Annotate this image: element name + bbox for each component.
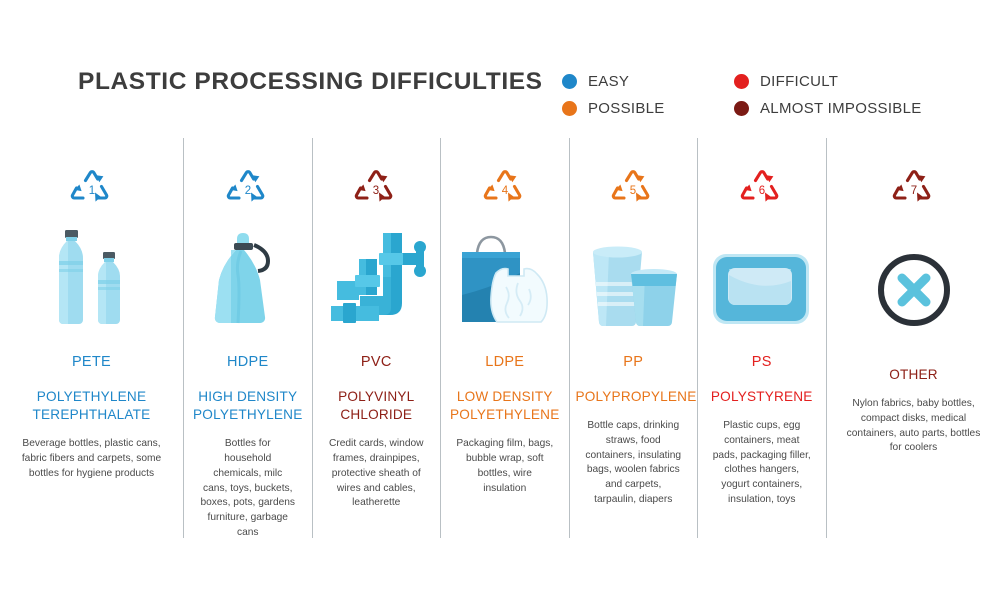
plastic-name-other: OTHER bbox=[827, 366, 1000, 384]
legend-dot-difficult bbox=[734, 74, 749, 89]
legend-dot-almost-impossible bbox=[734, 101, 749, 116]
pp-cups-icon bbox=[570, 220, 698, 330]
recycling-symbol-3: 3 bbox=[313, 163, 441, 218]
plastic-name-pp: POLYPROPYLENE bbox=[570, 388, 698, 406]
infographic-header: PLASTIC PROCESSING DIFFICULTIES EASY DIF… bbox=[0, 0, 1000, 138]
plastic-column-ldpe: 4 LDPE LOW DENSITY POLYETHYLENE bbox=[440, 138, 569, 538]
legend-dot-possible bbox=[562, 101, 577, 116]
legend-label-difficult: DIFFICULT bbox=[760, 73, 838, 90]
svg-text:6: 6 bbox=[759, 185, 765, 197]
plastic-uses-hdpe: Bottles for household chemicals, milc ca… bbox=[184, 437, 312, 540]
plastic-abbr-pvc: PVC bbox=[313, 354, 441, 370]
ldpe-bags-icon bbox=[441, 220, 569, 330]
legend: EASY DIFFICULT POSSIBLE ALMOST IMPOSSIBL… bbox=[562, 68, 962, 122]
plastic-name-ldpe: LOW DENSITY POLYETHYLENE bbox=[441, 388, 569, 424]
other-x-circle-icon bbox=[827, 220, 1000, 330]
svg-text:7: 7 bbox=[910, 185, 916, 197]
plastic-uses-pp: Bottle caps, drinking straws, food conta… bbox=[570, 419, 698, 508]
plastic-column-other: 7 OTHER Nylon fabrics, baby bottles, com… bbox=[826, 138, 1000, 538]
legend-item-difficult: DIFFICULT bbox=[734, 73, 838, 90]
pet-bottles-icon bbox=[0, 220, 183, 330]
recycling-symbol-1: 1 bbox=[0, 163, 183, 218]
plastic-name-hdpe: HIGH DENSITY POLYETHYLENE bbox=[184, 388, 312, 424]
plastic-abbr-ldpe: LDPE bbox=[441, 354, 569, 370]
plastic-column-pete: 1 PETE POLYETHYLENE TEREPHTHAL bbox=[0, 138, 183, 538]
pvc-pipes-icon bbox=[313, 220, 441, 330]
plastic-abbr-hdpe: HDPE bbox=[184, 354, 312, 370]
plastic-abbr-pete: PETE bbox=[0, 354, 183, 370]
recycling-symbol-2: 2 bbox=[184, 163, 312, 218]
plastic-uses-ps: Plastic cups, egg containers, meat pads,… bbox=[698, 419, 826, 508]
plastic-uses-other: Nylon fabrics, baby bottles, compact dis… bbox=[827, 397, 1000, 456]
plastic-uses-pete: Beverage bottles, plastic cans, fabric f… bbox=[0, 437, 183, 481]
plastic-uses-ldpe: Packaging film, bags, bubble wrap, soft … bbox=[441, 437, 569, 496]
plastic-columns: 1 PETE POLYETHYLENE TEREPHTHAL bbox=[0, 138, 1000, 538]
svg-text:2: 2 bbox=[245, 185, 251, 197]
plastic-name-ps: POLYSTYRENE bbox=[698, 388, 826, 406]
svg-text:4: 4 bbox=[502, 185, 509, 197]
legend-dot-easy bbox=[562, 74, 577, 89]
legend-row-2: POSSIBLE ALMOST IMPOSSIBLE bbox=[562, 95, 962, 122]
page-title: PLASTIC PROCESSING DIFFICULTIES bbox=[78, 68, 543, 96]
legend-row-1: EASY DIFFICULT bbox=[562, 68, 962, 95]
recycling-symbol-7: 7 bbox=[827, 163, 1000, 218]
legend-label-possible: POSSIBLE bbox=[588, 100, 665, 117]
plastic-column-pp: 5 PP POLYPROPYLENE B bbox=[569, 138, 698, 538]
plastic-abbr-pp: PP bbox=[570, 354, 698, 370]
recycling-symbol-5: 5 bbox=[570, 163, 698, 218]
legend-item-almost-impossible: ALMOST IMPOSSIBLE bbox=[734, 100, 922, 117]
svg-text:3: 3 bbox=[373, 185, 379, 197]
hdpe-jug-icon bbox=[184, 220, 312, 330]
svg-text:1: 1 bbox=[88, 185, 94, 197]
recycling-symbol-6: 6 bbox=[698, 163, 826, 218]
plastic-name-pete: POLYETHYLENE TEREPHTHALATE bbox=[0, 388, 183, 424]
plastic-abbr-ps: PS bbox=[698, 354, 826, 370]
legend-item-possible: POSSIBLE bbox=[562, 100, 734, 117]
plastic-column-pvc: 3 bbox=[312, 138, 441, 538]
svg-text:5: 5 bbox=[630, 185, 636, 197]
legend-item-easy: EASY bbox=[562, 73, 734, 90]
plastic-column-hdpe: 2 HDPE HIGH DENSITY POLYETHYLENE Bottles… bbox=[183, 138, 312, 538]
ps-foam-tray-icon bbox=[698, 220, 826, 330]
legend-label-almost-impossible: ALMOST IMPOSSIBLE bbox=[760, 100, 922, 117]
legend-label-easy: EASY bbox=[588, 73, 629, 90]
plastic-uses-pvc: Credit cards, window frames, drainpipes,… bbox=[313, 437, 441, 511]
recycling-symbol-4: 4 bbox=[441, 163, 569, 218]
plastic-column-ps: 6 PS POLYSTYRENE Plastic cups, egg conta… bbox=[697, 138, 826, 538]
plastic-name-pvc: POLYVINYL CHLORIDE bbox=[313, 388, 441, 424]
